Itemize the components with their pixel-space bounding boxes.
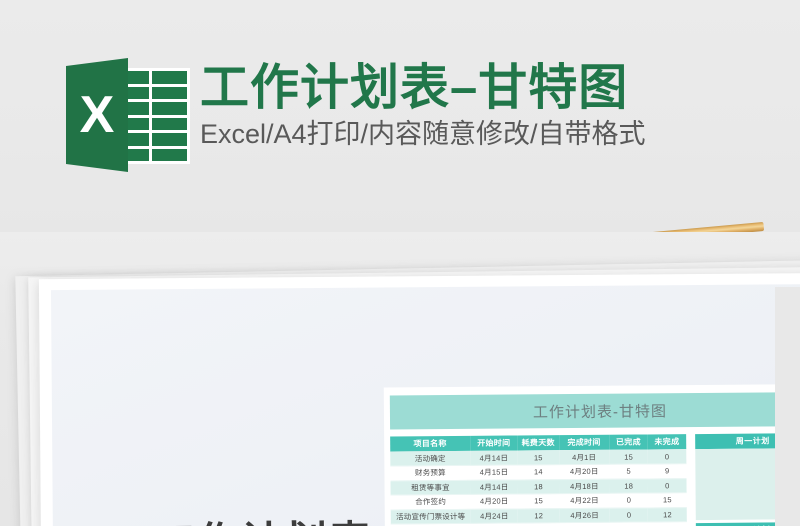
paper-page-surface: 工作计划表 工作计划表-甘特图 项目名称 xyxy=(51,284,800,526)
cell-start: 4月14日 xyxy=(470,479,517,494)
cell-todo: 0 xyxy=(648,478,687,493)
cell-name: 活动确定 xyxy=(390,451,470,466)
page-subtitle: Excel/A4打印/内容随意修改/自带格式 xyxy=(200,119,780,150)
excel-logo: X xyxy=(66,58,190,172)
column-header-name: 项目名称 xyxy=(390,436,470,452)
cell-todo: 9 xyxy=(648,464,687,479)
page-right-gutter xyxy=(775,287,800,526)
column-header-start: 开始时间 xyxy=(470,435,517,450)
cell-name: 财务预算 xyxy=(390,465,470,480)
cell-name: 活动宣传门票设计等 xyxy=(391,509,471,524)
cell-todo: 12 xyxy=(648,507,687,522)
cell-days: 14 xyxy=(518,465,560,480)
cell-end: 4月18日 xyxy=(559,479,609,494)
cell-done: 0 xyxy=(610,507,649,522)
cell-done: 0 xyxy=(610,522,649,526)
cell-end: 4月1日 xyxy=(559,450,609,465)
cell-name: 合作签约 xyxy=(391,494,471,509)
cell-days: 18 xyxy=(518,479,560,494)
cell-done: 15 xyxy=(609,449,648,464)
cell-days: 15 xyxy=(518,450,560,465)
paper-sheet-front: 工作计划表 工作计划表-甘特图 项目名称 xyxy=(39,273,800,526)
logo-letter-x: X xyxy=(66,58,128,172)
cell-days: 12 xyxy=(518,508,560,523)
cell-start: 4月15日 xyxy=(470,465,517,480)
cell-end: 4月26日 xyxy=(559,508,609,523)
header-banner: X 工作计划表–甘特图 Excel/A4打印/内容随意修改/自带格式 xyxy=(0,0,800,232)
cell-done: 0 xyxy=(610,493,649,508)
gantt-table: 项目名称 开始时间 耗费天数 完成时间 已完成 未完成 xyxy=(390,434,687,526)
cell-start: 4月20日 xyxy=(471,494,518,509)
cell-done: 5 xyxy=(609,464,648,479)
spreadsheet-body: 项目名称 开始时间 耗费天数 完成时间 已完成 未完成 xyxy=(390,433,800,526)
cell-end: 4月20日 xyxy=(559,464,609,479)
document-preview-scene: 工作计划表 工作计划表-甘特图 项目名称 xyxy=(0,232,800,526)
spreadsheet-card: 工作计划表-甘特图 项目名称 开始时间 xyxy=(384,384,800,526)
cell-done: 18 xyxy=(609,478,648,493)
cell-days: 14 xyxy=(518,523,560,526)
page-title: 工作计划表–甘特图 xyxy=(200,62,780,115)
cell-todo: 14 xyxy=(648,522,687,526)
gantt-table-wrapper: 项目名称 开始时间 耗费天数 完成时间 已完成 未完成 xyxy=(390,434,687,526)
sheet-caption: 工作计划表 xyxy=(153,508,373,526)
cell-name: 租赁等事宜 xyxy=(390,480,470,495)
spreadsheet-title: 工作计划表-甘特图 xyxy=(390,392,800,429)
column-header-todo: 未完成 xyxy=(648,434,687,449)
cell-todo: 15 xyxy=(648,493,687,508)
column-header-end: 完成时间 xyxy=(559,435,609,450)
column-header-done: 已完成 xyxy=(609,434,648,449)
cell-start: 4月24日 xyxy=(471,508,518,523)
cell-days: 15 xyxy=(518,494,560,509)
cell-end: 4月22日 xyxy=(559,493,609,508)
cell-todo: 0 xyxy=(648,449,687,464)
column-header-days: 耗费天数 xyxy=(517,435,559,450)
banner-text-block: 工作计划表–甘特图 Excel/A4打印/内容随意修改/自带格式 xyxy=(200,62,780,150)
cell-start: 4月14日 xyxy=(470,450,517,465)
cell-end: 4月30日 xyxy=(560,522,610,526)
